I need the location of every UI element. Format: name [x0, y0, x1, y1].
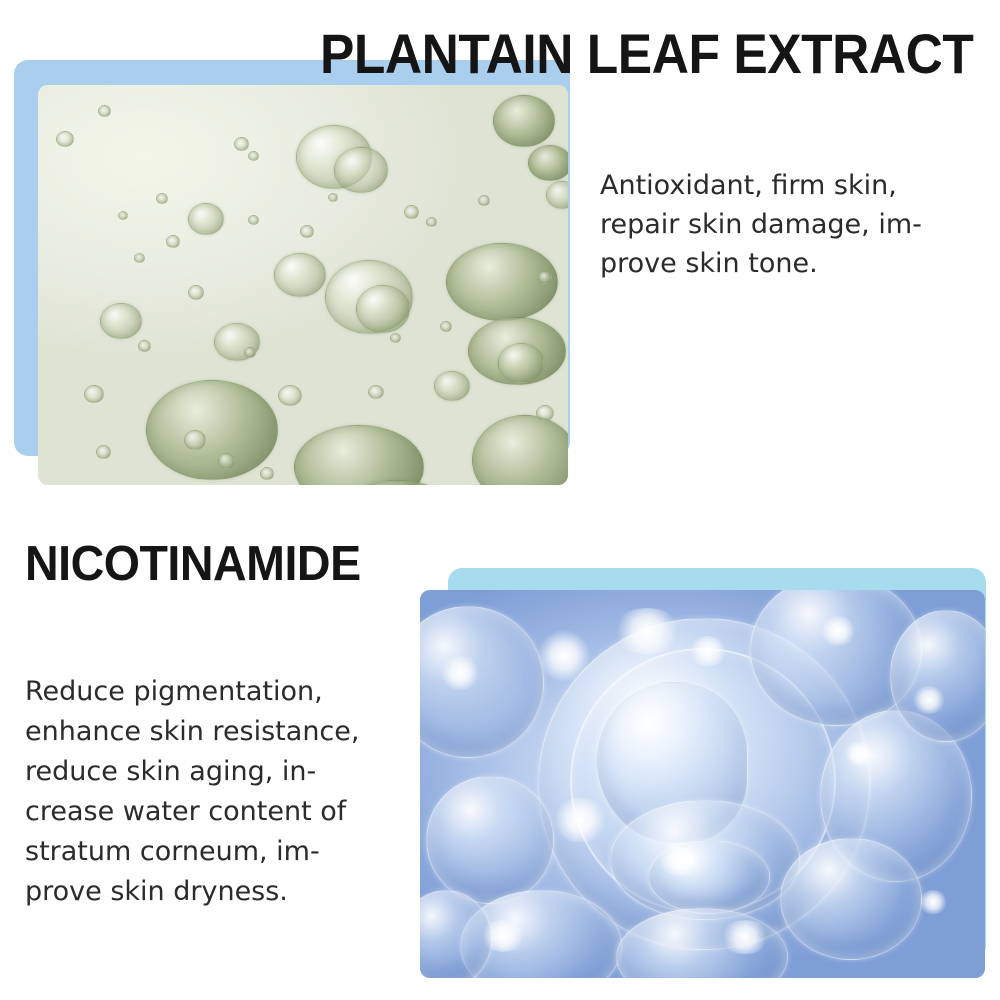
bubble: [98, 105, 111, 117]
bubble: [100, 303, 142, 339]
bubble: [146, 380, 278, 480]
highlight-sparkle: [912, 686, 946, 714]
bubble: [248, 151, 259, 161]
water-droplet: [426, 776, 554, 904]
bubble: [390, 333, 401, 343]
bubble: [166, 235, 180, 248]
product-image-plantain: [38, 85, 568, 485]
bubble: [188, 285, 204, 300]
bubble: [118, 211, 128, 220]
bubble: [528, 145, 568, 181]
bubble: [536, 405, 554, 421]
highlight-sparkle: [844, 742, 874, 766]
section-body-plantain: Antioxidant, firm skin, repair skin dama…: [600, 166, 922, 283]
section-title-plantain: PLANTAIN LEAF EXTRACT: [320, 26, 973, 82]
bubble: [260, 467, 274, 480]
bubble: [498, 343, 544, 383]
bubble: [134, 253, 145, 263]
bubble: [300, 225, 314, 238]
highlight-sparkle: [612, 608, 682, 654]
infographic-page: PLANTAIN LEAF EXTRACT Antioxidant, firm …: [0, 0, 1000, 1000]
bubble: [328, 193, 338, 202]
bubble: [244, 347, 256, 358]
highlight-sparkle: [552, 798, 608, 842]
bubble: [368, 385, 384, 399]
bubble: [188, 203, 224, 235]
bubble: [138, 340, 151, 352]
bubble: [493, 95, 555, 147]
product-image-nicotinamide: [420, 590, 985, 978]
highlight-sparkle: [688, 636, 728, 666]
bubble: [538, 271, 552, 284]
bubble: [278, 385, 302, 406]
water-droplet: [780, 838, 922, 960]
bubble: [56, 131, 74, 147]
bubble: [426, 217, 437, 227]
bubble: [478, 195, 490, 206]
bubble: [96, 445, 111, 459]
bubble: [434, 371, 470, 401]
bubble: [274, 253, 326, 297]
section-title-nicotinamide: NICOTINAMIDE: [25, 540, 361, 589]
bubble: [156, 193, 168, 204]
highlight-sparkle: [820, 616, 856, 646]
bubble: [234, 137, 249, 151]
bubble: [440, 321, 452, 332]
highlight-sparkle: [538, 630, 590, 682]
bubble: [334, 147, 388, 193]
bubble: [404, 205, 419, 219]
highlight-sparkle: [480, 920, 526, 952]
highlight-sparkle: [918, 890, 948, 914]
bubble: [184, 430, 206, 450]
highlight-sparkle: [658, 842, 702, 876]
highlight-sparkle: [720, 920, 770, 954]
bubble: [248, 215, 259, 225]
bubble: [218, 453, 235, 469]
highlight-sparkle: [440, 656, 480, 690]
bubble: [84, 385, 104, 403]
bubble: [356, 285, 410, 333]
section-body-nicotinamide: Reduce pigmentation, enhance skin resist…: [25, 672, 359, 912]
